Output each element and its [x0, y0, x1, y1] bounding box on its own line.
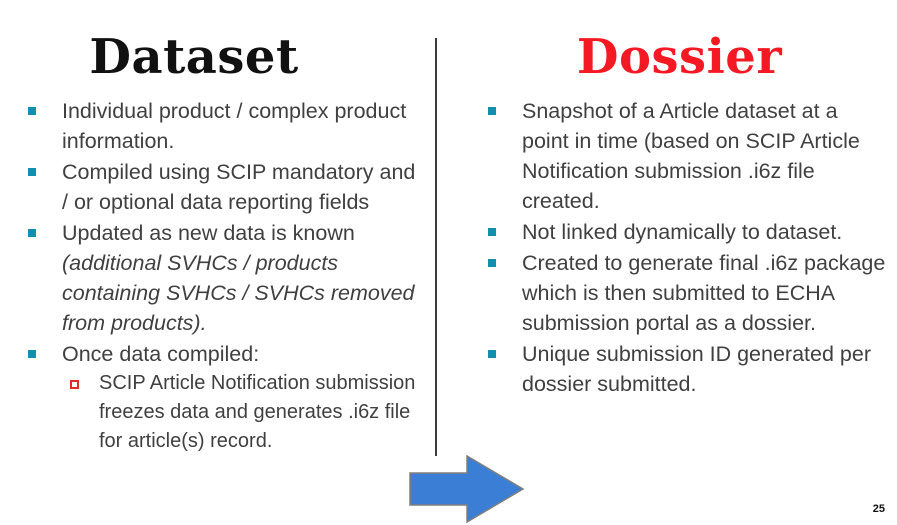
- square-bullet-icon: [28, 350, 36, 358]
- left-column-heading: Dataset: [22, 28, 422, 86]
- square-bullet-icon: [488, 228, 496, 236]
- column-divider: [435, 38, 437, 456]
- bullet-text: Not linked dynamically to dataset.: [522, 220, 842, 244]
- bullet-text: Compiled using SCIP mandatory and / or o…: [62, 160, 415, 214]
- bullet-text-italic: (additional SVHCs / products containing …: [62, 251, 415, 335]
- left-column-bullet-list: Individual product / complex product inf…: [22, 96, 422, 456]
- sub-list-item: SCIP Article Notification submission fre…: [62, 369, 422, 456]
- bullet-text: Created to generate final .i6z package w…: [522, 251, 885, 335]
- bullet-text: Snapshot of a Article dataset at a point…: [522, 99, 860, 213]
- square-bullet-icon: [488, 107, 496, 115]
- bullet-text: Individual product / complex product inf…: [62, 99, 406, 153]
- right-arrow-icon: [409, 455, 525, 523]
- list-item: Unique submission ID generated per dossi…: [482, 339, 887, 399]
- square-bullet-icon: [28, 168, 36, 176]
- sub-bullet-text: SCIP Article Notification submission fre…: [99, 372, 415, 452]
- right-column-bullet-list: Snapshot of a Article dataset at a point…: [482, 96, 887, 399]
- right-column-heading: Dossier: [482, 28, 887, 86]
- left-column: Dataset Individual product / complex pro…: [22, 28, 422, 457]
- right-column: Dossier Snapshot of a Article dataset at…: [482, 28, 887, 400]
- list-item: Updated as new data is known (additional…: [22, 218, 422, 338]
- square-bullet-icon: [28, 107, 36, 115]
- list-item: Once data compiled: SCIP Article Notific…: [22, 339, 422, 456]
- square-bullet-icon: [488, 350, 496, 358]
- bullet-text: Unique submission ID generated per dossi…: [522, 342, 871, 396]
- bullet-text: Once data compiled:: [62, 342, 259, 366]
- square-bullet-icon: [488, 259, 496, 267]
- page-number: 25: [873, 503, 885, 515]
- sub-bullet-list: SCIP Article Notification submission fre…: [62, 369, 422, 456]
- list-item: Created to generate final .i6z package w…: [482, 248, 887, 338]
- list-item: Not linked dynamically to dataset.: [482, 217, 887, 247]
- slide-canvas: Dataset Individual product / complex pro…: [0, 0, 897, 525]
- list-item: Snapshot of a Article dataset at a point…: [482, 96, 887, 216]
- list-item: Individual product / complex product inf…: [22, 96, 422, 156]
- bullet-text: Updated as new data is known: [62, 221, 355, 245]
- hollow-square-bullet-icon: [70, 380, 79, 389]
- list-item: Compiled using SCIP mandatory and / or o…: [22, 157, 422, 217]
- square-bullet-icon: [28, 229, 36, 237]
